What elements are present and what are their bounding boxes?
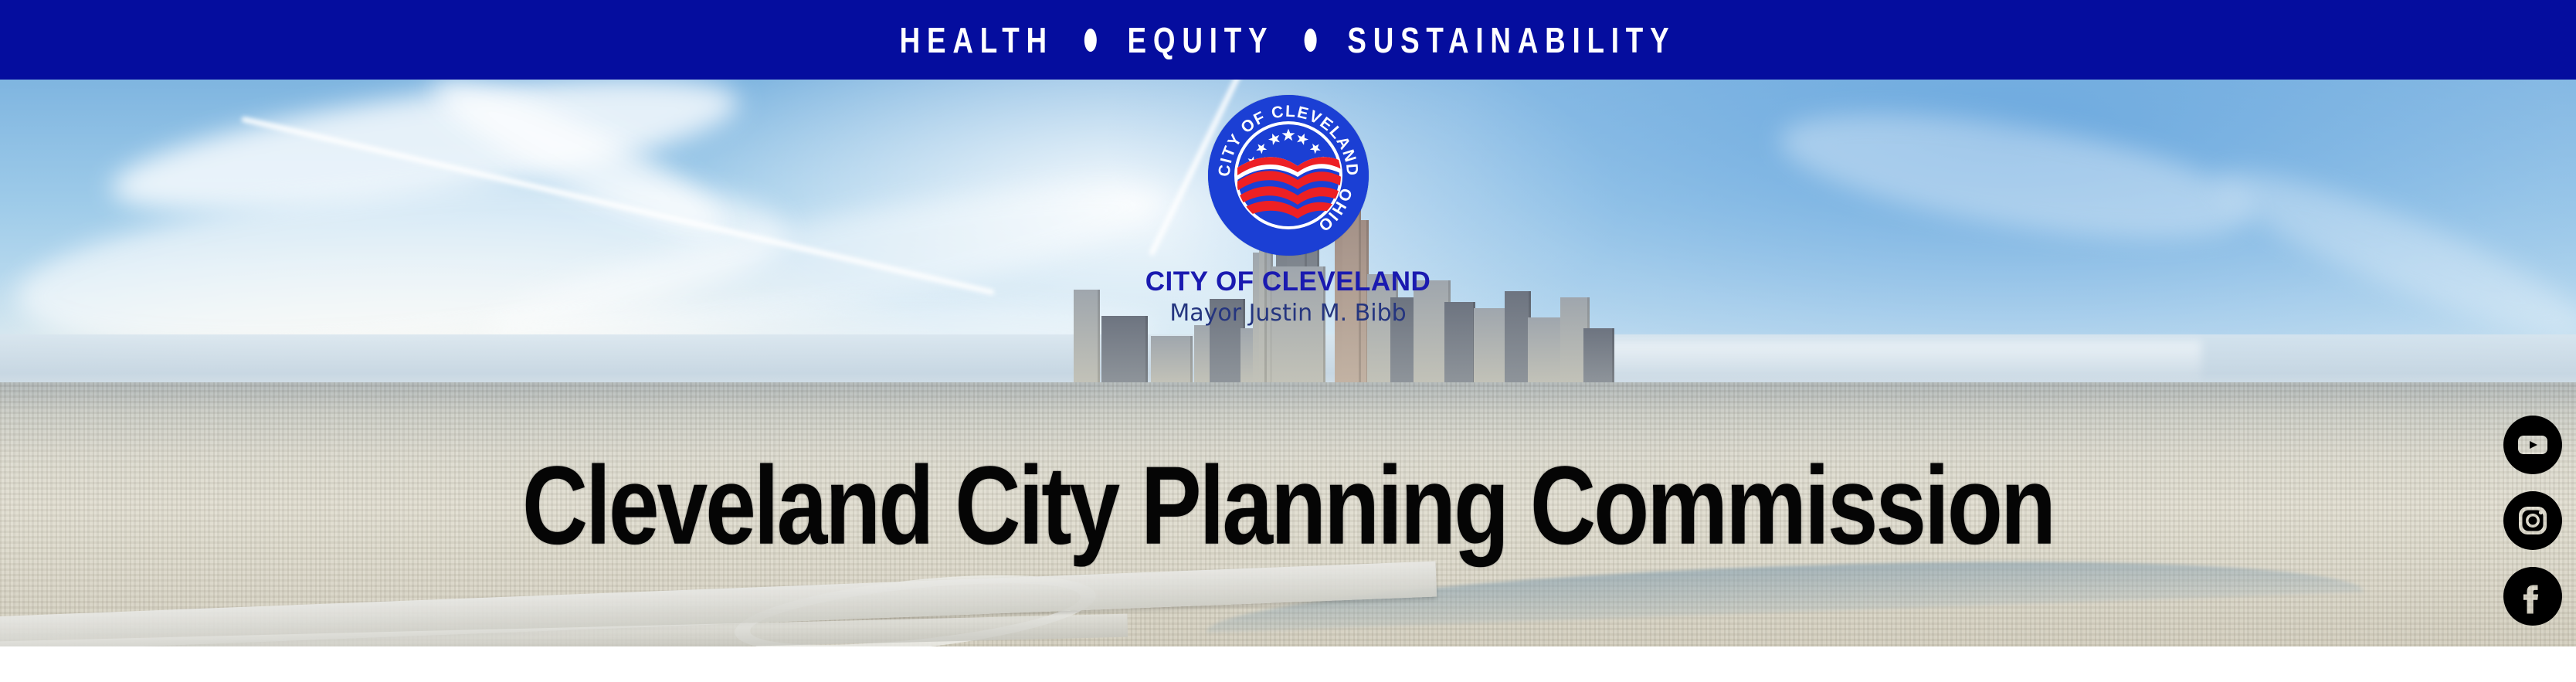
youtube-link[interactable] <box>2503 416 2562 474</box>
page-title: Cleveland City Planning Commission <box>0 450 2576 562</box>
social-links <box>2503 416 2562 626</box>
city-of-cleveland-seal-icon[interactable]: CITY OF CLEVELAND OHIO <box>1208 95 1369 256</box>
city-logo-group[interactable]: CITY OF CLEVELAND OHIO <box>0 95 2576 325</box>
youtube-icon <box>2503 416 2562 474</box>
organization-name: CITY OF CLEVELAND <box>1145 268 1431 295</box>
page-root: HEALTH EQUITY SUSTAINABILITY <box>0 0 2576 682</box>
instagram-link[interactable] <box>2503 491 2562 550</box>
facebook-icon <box>2503 567 2562 626</box>
tagline-banner: HEALTH EQUITY SUSTAINABILITY <box>0 0 2576 80</box>
facebook-link[interactable] <box>2503 567 2562 626</box>
tagline-word-sustainability: SUSTAINABILITY <box>1348 20 1676 60</box>
tagline-word-equity: EQUITY <box>1128 20 1274 60</box>
tagline-bullet-1 <box>1084 17 1097 59</box>
tagline-bullet-2 <box>1305 17 1317 59</box>
mayor-name: Mayor Justin M. Bibb <box>1169 302 1406 325</box>
tagline-text: HEALTH EQUITY SUSTAINABILITY <box>900 19 1676 61</box>
hero-photo: CITY OF CLEVELAND OHIO <box>0 80 2576 646</box>
tagline-word-health: HEALTH <box>900 20 1054 60</box>
instagram-icon <box>2503 491 2562 550</box>
